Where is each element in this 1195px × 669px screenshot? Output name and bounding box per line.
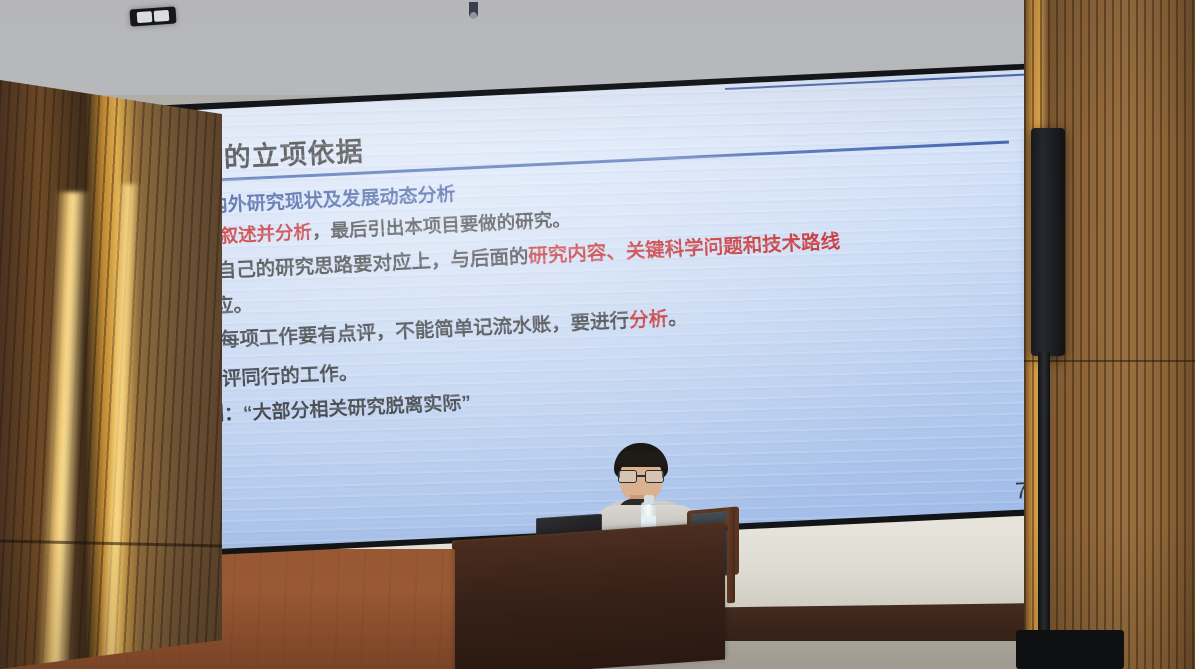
left-wall-backlight — [36, 192, 89, 669]
left-wall-backlight-2 — [98, 184, 140, 669]
speaker-base-cabinet — [1016, 630, 1124, 669]
bullet-text-red: 分析 — [629, 308, 669, 332]
bullet-text: 例：“大部分相关研究脱离实际” — [205, 391, 472, 429]
left-wood-wall — [0, 80, 225, 669]
chair-frame — [727, 507, 735, 604]
sprinkler-head-icon — [469, 2, 478, 18]
bullet-text-dark: ，最后引出本项目要做的研究。 — [311, 209, 571, 242]
speaker-stand-pole — [1038, 352, 1050, 637]
bottle-cap — [644, 495, 654, 504]
bullet-text-dark: 。 — [668, 307, 689, 330]
ceiling-spotlight-icon — [129, 6, 176, 26]
eyeglasses-icon — [618, 470, 664, 481]
slide-bullet-list: 分类叙述并分析，最后引出本项目要做的研究。 分类与自己的研究思路要对应上，与后面… — [138, 185, 1052, 441]
podium — [455, 524, 725, 669]
presenter-hair-front — [616, 451, 666, 467]
wall-speaker — [1031, 128, 1065, 356]
lecture-hall-photo: 齐鲁工业大学 QILU UNIVERSITY OF TECHNOLOGY （山东… — [0, 0, 1195, 669]
